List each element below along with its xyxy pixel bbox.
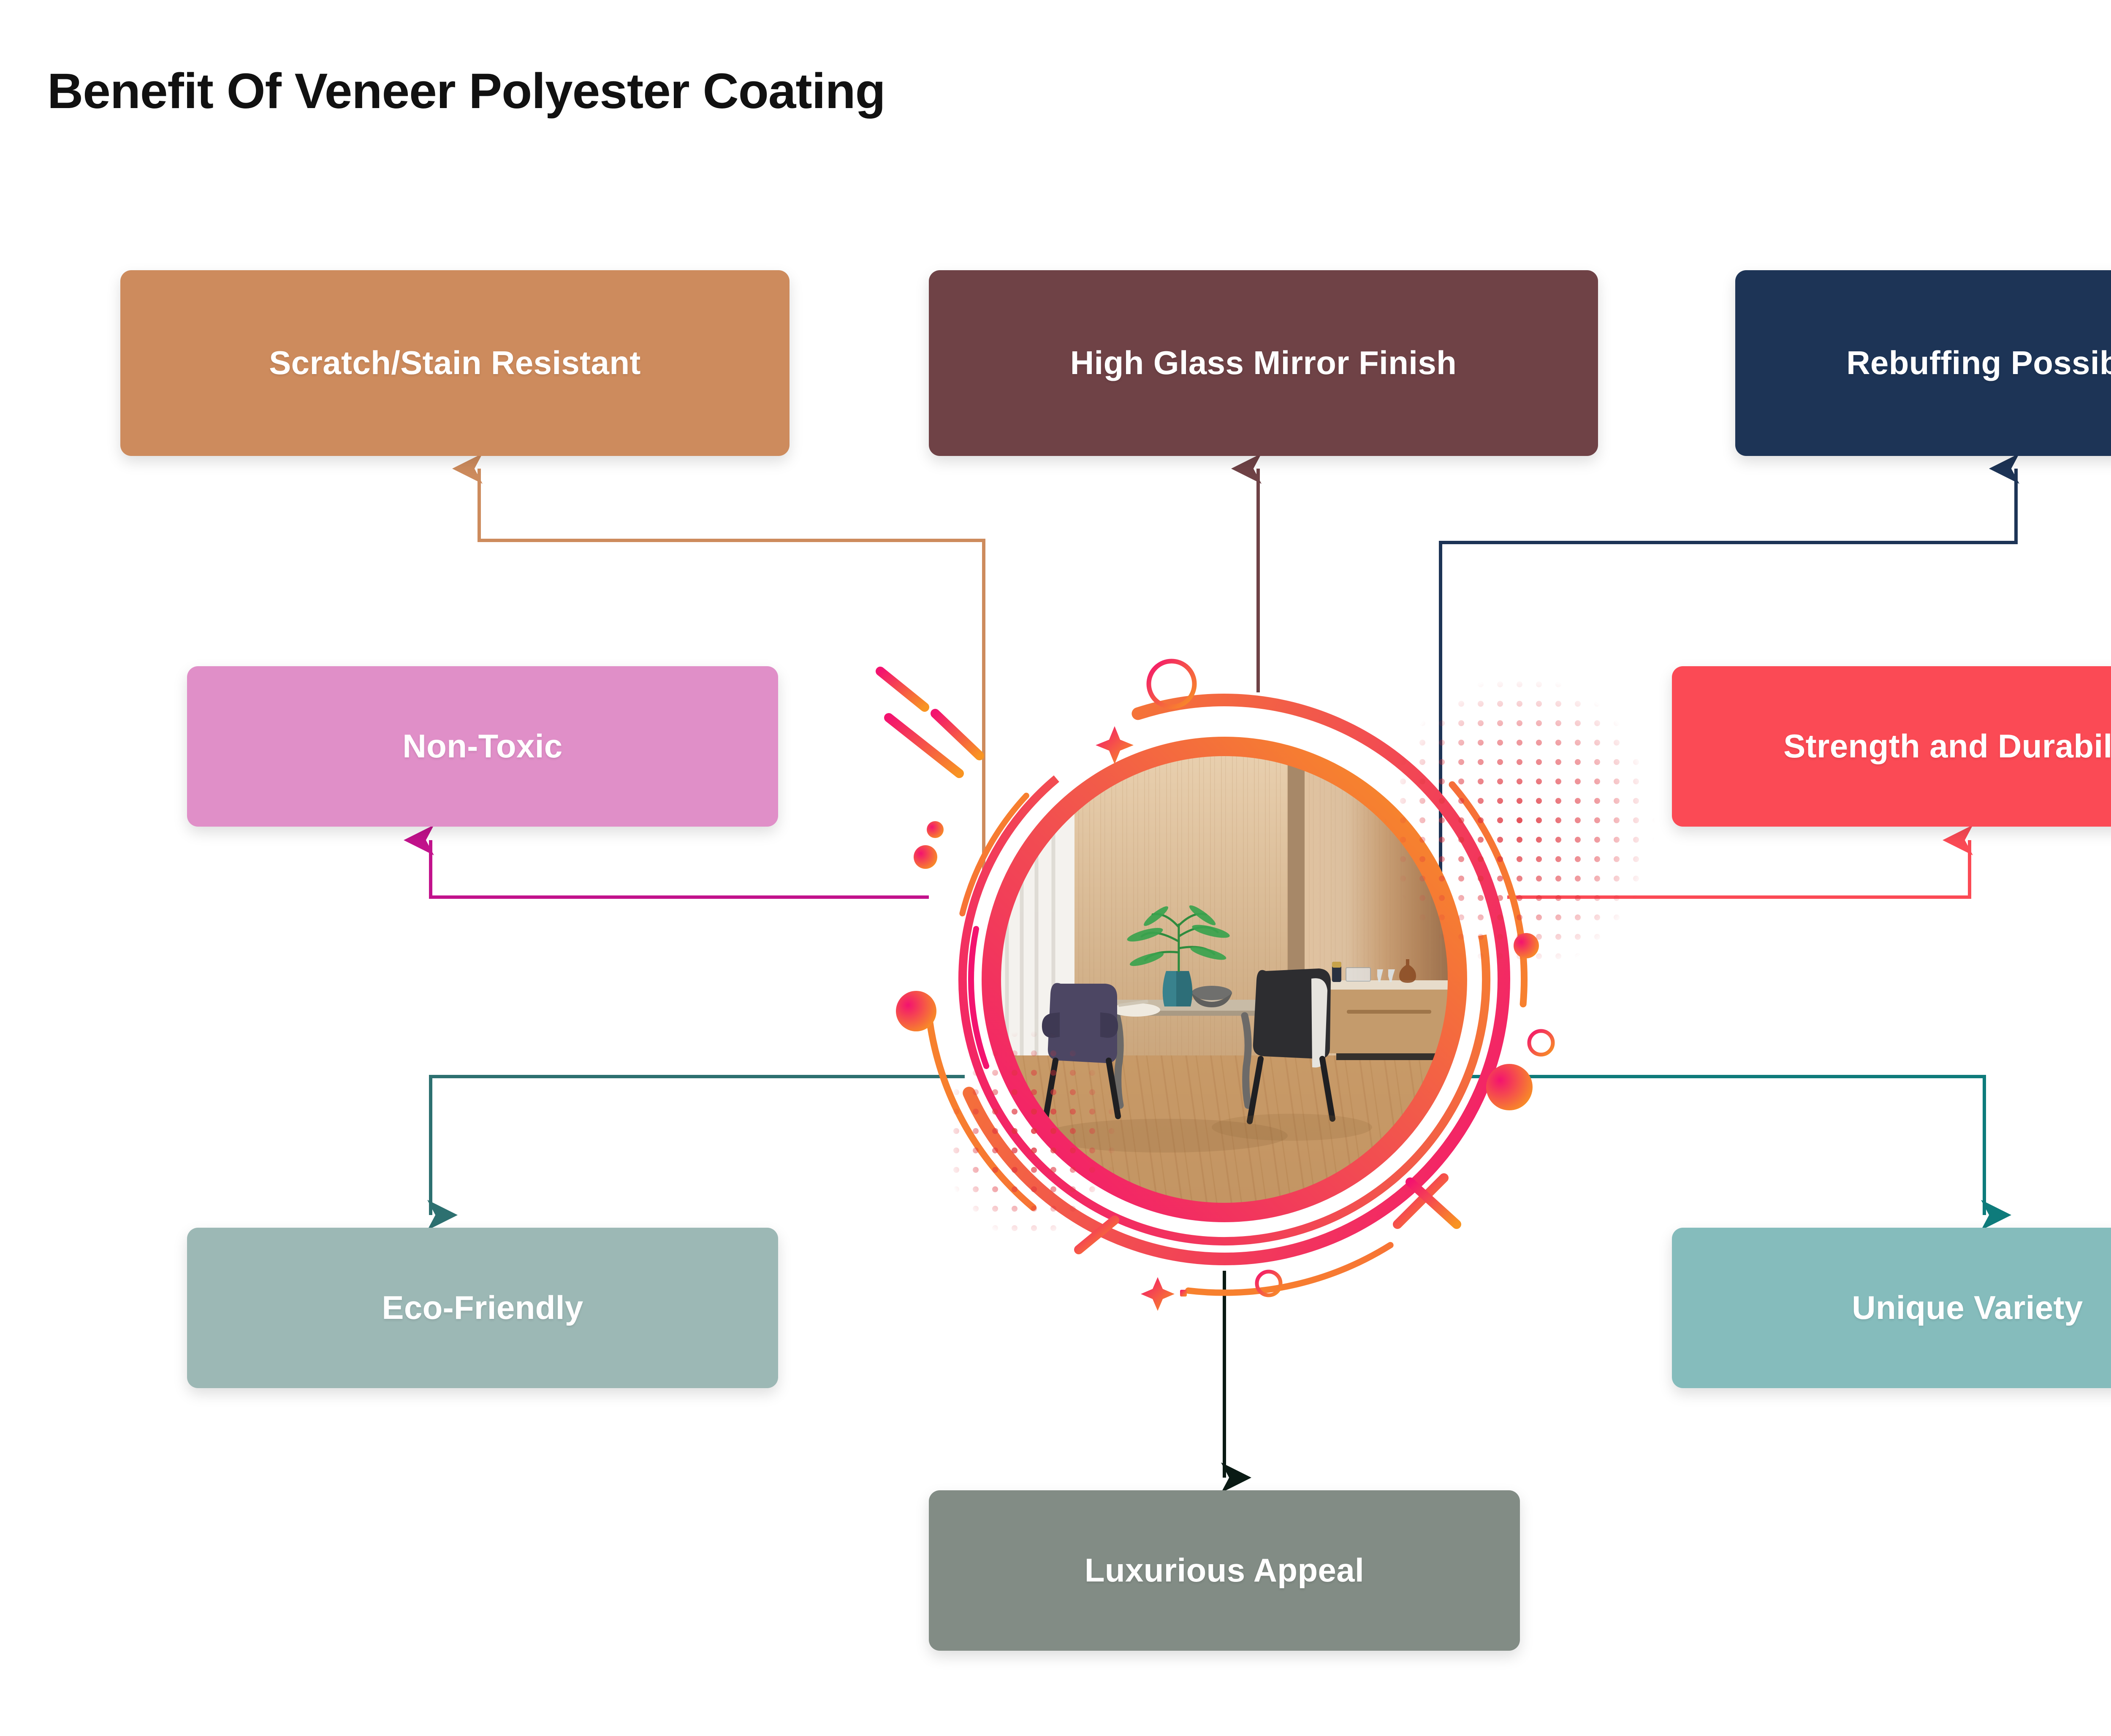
accent-ball-2 (914, 845, 937, 869)
accent-ball-5 (1486, 1064, 1533, 1110)
node-unique-variety[interactable]: Unique Variety (1672, 1228, 2111, 1388)
node-non-toxic[interactable]: Non-Toxic (187, 666, 778, 827)
node-label: Eco-Friendly (382, 1290, 583, 1326)
node-rebuffing-possible[interactable]: Rebuffing Possible (1735, 270, 2111, 456)
node-luxurious-appeal[interactable]: Luxurious Appeal (929, 1490, 1520, 1651)
node-label: Unique Variety (1852, 1290, 2083, 1326)
node-label: High Glass Mirror Finish (1070, 345, 1457, 381)
node-label: Non-Toxic (402, 728, 562, 765)
node-high-glass-mirror-finish[interactable]: High Glass Mirror Finish (929, 270, 1598, 456)
node-eco-friendly[interactable]: Eco-Friendly (187, 1228, 778, 1388)
accent-ball-1 (927, 821, 944, 838)
page-title: Benefit Of Veneer Polyester Coating (47, 62, 885, 120)
node-label: Luxurious Appeal (1085, 1552, 1364, 1589)
ring-outline-right (1529, 1031, 1553, 1055)
node-label: Strength and Durability (1783, 728, 2111, 765)
halftone-left (942, 1030, 1119, 1241)
node-label: Scratch/Stain Resistant (269, 345, 641, 381)
accent-ball-3 (896, 991, 936, 1031)
accent-ball-4 (1514, 933, 1539, 958)
node-label: Rebuffing Possible (1846, 345, 2111, 381)
node-scratch-stain-resistant[interactable]: Scratch/Stain Resistant (120, 270, 790, 456)
center-graphic (0, 0, 2111, 1736)
halftone-right (1385, 675, 1655, 971)
node-strength-and-durability[interactable]: Strength and Durability (1672, 666, 2111, 827)
